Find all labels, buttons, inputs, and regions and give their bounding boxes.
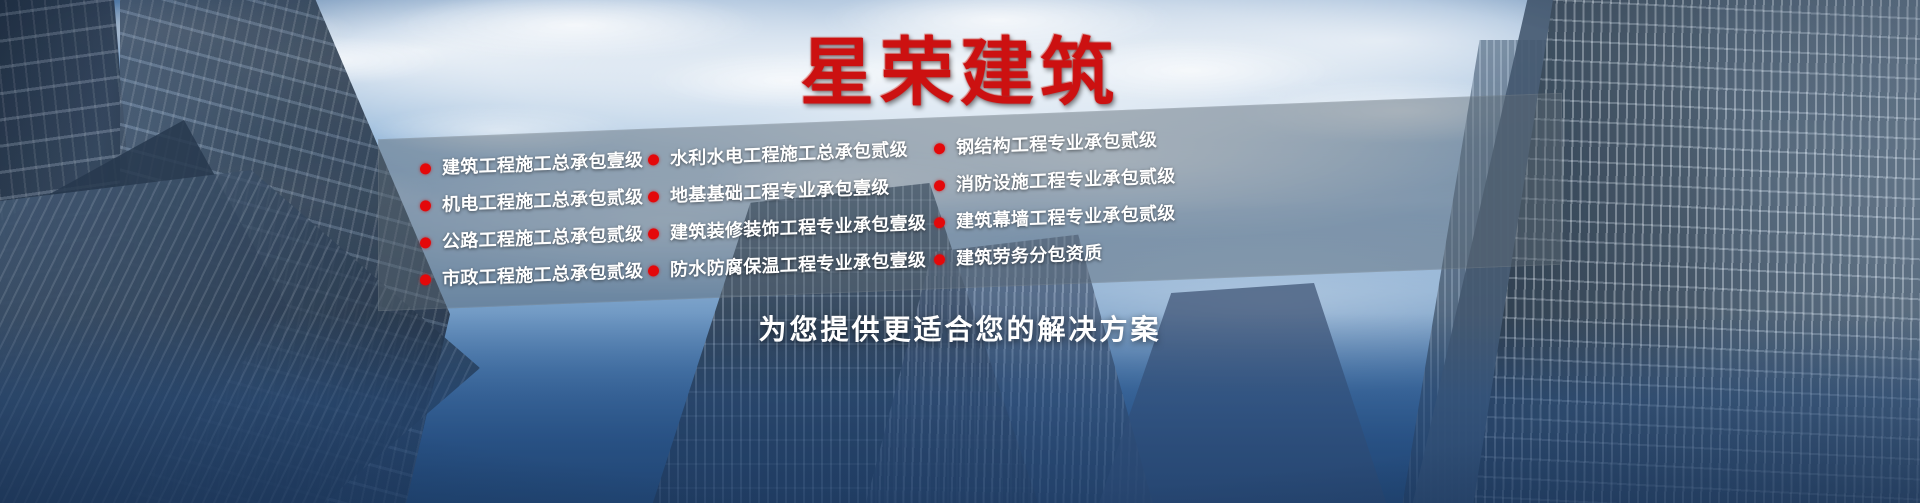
list-item[interactable]: 建筑幕墙工程专业承包贰级 (934, 196, 1224, 238)
qualification-column-2: 水利水电工程施工总承包贰级 地基基础工程专业承包壹级 建筑装修装饰工程专业承包壹… (648, 133, 938, 286)
banner-title: 星荣建筑 (0, 34, 1920, 112)
list-item[interactable]: 防水防腐保温工程专业承包壹级 (648, 244, 938, 286)
bullet-dot-icon (934, 143, 945, 154)
list-item[interactable]: 机电工程施工总承包贰级 (420, 181, 660, 221)
qualification-label: 钢结构工程专业承包贰级 (956, 130, 1157, 158)
bullet-dot-icon (648, 154, 659, 165)
qualification-column-3: 钢结构工程专业承包贰级 消防设施工程专业承包贰级 建筑幕墙工程专业承包贰级 建筑… (934, 122, 1224, 275)
list-item[interactable]: 建筑装修装饰工程专业承包壹级 (648, 207, 938, 249)
banner-tagline: 为您提供更适合您的解决方案 (0, 313, 1920, 347)
bullet-dot-icon (420, 274, 431, 285)
list-item[interactable]: 市政工程施工总承包贰级 (420, 255, 660, 295)
bullet-dot-icon (648, 228, 659, 239)
bullet-dot-icon (420, 237, 431, 248)
bullet-dot-icon (420, 163, 431, 174)
qualification-label: 建筑装修装饰工程专业承包壹级 (670, 213, 926, 243)
qualification-label: 防水防腐保温工程专业承包壹级 (670, 250, 926, 280)
bullet-dot-icon (934, 180, 945, 191)
bullet-dot-icon (648, 265, 659, 276)
bullet-dot-icon (934, 217, 945, 228)
qualification-label: 建筑工程施工总承包壹级 (442, 150, 643, 178)
qualification-column-1: 建筑工程施工总承包壹级 机电工程施工总承包贰级 公路工程施工总承包贰级 市政工程… (420, 144, 660, 295)
bullet-dot-icon (420, 200, 431, 211)
list-item[interactable]: 建筑劳务分包资质 (934, 233, 1224, 275)
hero-banner: 星荣建筑 建筑工程施工总承包壹级 机电工程施工总承包贰级 公路工程施工总承包贰级… (0, 0, 1920, 503)
bullet-dot-icon (934, 254, 945, 265)
qualification-label: 市政工程施工总承包贰级 (442, 261, 643, 289)
qualification-label: 公路工程施工总承包贰级 (442, 224, 643, 252)
list-item[interactable]: 建筑工程施工总承包壹级 (420, 144, 660, 184)
list-item[interactable]: 消防设施工程专业承包贰级 (934, 159, 1224, 201)
qualification-label: 建筑劳务分包资质 (956, 243, 1102, 269)
list-item[interactable]: 公路工程施工总承包贰级 (420, 218, 660, 258)
qualification-label: 水利水电工程施工总承包贰级 (670, 140, 908, 169)
list-item[interactable]: 钢结构工程专业承包贰级 (934, 122, 1224, 164)
qualification-label: 消防设施工程专业承包贰级 (956, 166, 1176, 195)
list-item[interactable]: 水利水电工程施工总承包贰级 (648, 133, 938, 175)
qualification-label: 机电工程施工总承包贰级 (442, 187, 643, 215)
bullet-dot-icon (648, 191, 659, 202)
list-item[interactable]: 地基基础工程专业承包壹级 (648, 170, 938, 212)
qualification-label: 建筑幕墙工程专业承包贰级 (956, 203, 1176, 232)
qualification-label: 地基基础工程专业承包壹级 (670, 178, 890, 207)
